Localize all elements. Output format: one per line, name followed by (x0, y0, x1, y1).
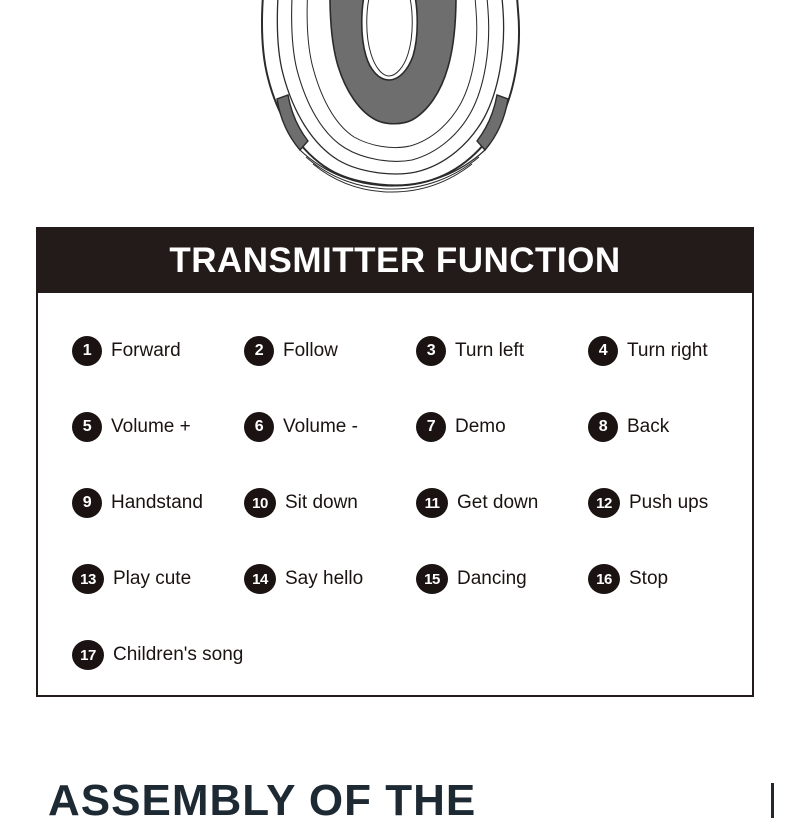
function-label: Sit down (285, 492, 358, 514)
function-item-4[interactable]: 4 Turn right (588, 336, 760, 366)
function-number-badge: 8 (588, 412, 618, 442)
function-item-3[interactable]: 3 Turn left (416, 336, 588, 366)
function-item-12[interactable]: 12 Push ups (588, 488, 760, 518)
function-row: 1 Forward 2 Follow 3 Turn left 4 Turn ri… (38, 313, 752, 389)
panel-title: TRANSMITTER FUNCTION (169, 241, 620, 281)
function-label: Demo (455, 416, 506, 438)
panel-header: TRANSMITTER FUNCTION (38, 229, 752, 293)
function-number-badge: 9 (72, 488, 102, 518)
function-label: Get down (457, 492, 538, 514)
function-number-badge: 17 (72, 640, 104, 670)
function-number-badge: 11 (416, 488, 448, 518)
function-number-badge: 3 (416, 336, 446, 366)
function-row: 9 Handstand 10 Sit down 11 Get down 12 P… (38, 465, 752, 541)
function-label: Back (627, 416, 669, 438)
function-number-badge: 4 (588, 336, 618, 366)
function-label: Children's song (113, 644, 243, 666)
function-number-badge: 2 (244, 336, 274, 366)
function-label: Say hello (285, 568, 363, 590)
function-label: Turn left (455, 340, 524, 362)
function-number-badge: 16 (588, 564, 620, 594)
function-row: 5 Volume + 6 Volume - 7 Demo 8 Back (38, 389, 752, 465)
function-number-badge: 5 (72, 412, 102, 442)
function-label: Dancing (457, 568, 527, 590)
function-label: Follow (283, 340, 338, 362)
function-label: Turn right (627, 340, 708, 362)
function-number-badge: 13 (72, 564, 104, 594)
function-item-9[interactable]: 9 Handstand (72, 488, 244, 518)
function-row: 13 Play cute 14 Say hello 15 Dancing 16 … (38, 541, 752, 617)
vertical-rule (771, 783, 774, 818)
remote-control-drawing (0, 0, 790, 210)
function-item-10[interactable]: 10 Sit down (244, 488, 416, 518)
function-item-17[interactable]: 17 Children's song (72, 640, 244, 670)
function-number-badge: 7 (416, 412, 446, 442)
function-item-11[interactable]: 11 Get down (416, 488, 588, 518)
function-number-badge: 15 (416, 564, 448, 594)
function-label: Volume - (283, 416, 358, 438)
function-item-7[interactable]: 7 Demo (416, 412, 588, 442)
function-label: Forward (111, 340, 181, 362)
transmitter-function-panel: TRANSMITTER FUNCTION 1 Forward 2 Follow … (36, 227, 754, 697)
function-number-badge: 10 (244, 488, 276, 518)
function-item-14[interactable]: 14 Say hello (244, 564, 416, 594)
assembly-section-heading: ASSEMBLY OF THE (48, 776, 476, 826)
function-item-1[interactable]: 1 Forward (72, 336, 244, 366)
function-label: Push ups (629, 492, 708, 514)
function-item-2[interactable]: 2 Follow (244, 336, 416, 366)
function-item-8[interactable]: 8 Back (588, 412, 760, 442)
function-number-badge: 6 (244, 412, 274, 442)
function-item-13[interactable]: 13 Play cute (72, 564, 244, 594)
function-number-badge: 1 (72, 336, 102, 366)
function-item-6[interactable]: 6 Volume - (244, 412, 416, 442)
function-row: 17 Children's song (38, 617, 752, 693)
function-number-badge: 12 (588, 488, 620, 518)
function-label: Handstand (111, 492, 203, 514)
function-item-5[interactable]: 5 Volume + (72, 412, 244, 442)
function-label: Stop (629, 568, 668, 590)
product-illustration (0, 0, 790, 210)
function-item-15[interactable]: 15 Dancing (416, 564, 588, 594)
function-number-badge: 14 (244, 564, 276, 594)
function-item-16[interactable]: 16 Stop (588, 564, 760, 594)
function-label: Volume + (111, 416, 191, 438)
function-label: Play cute (113, 568, 191, 590)
function-list: 1 Forward 2 Follow 3 Turn left 4 Turn ri… (38, 293, 752, 693)
